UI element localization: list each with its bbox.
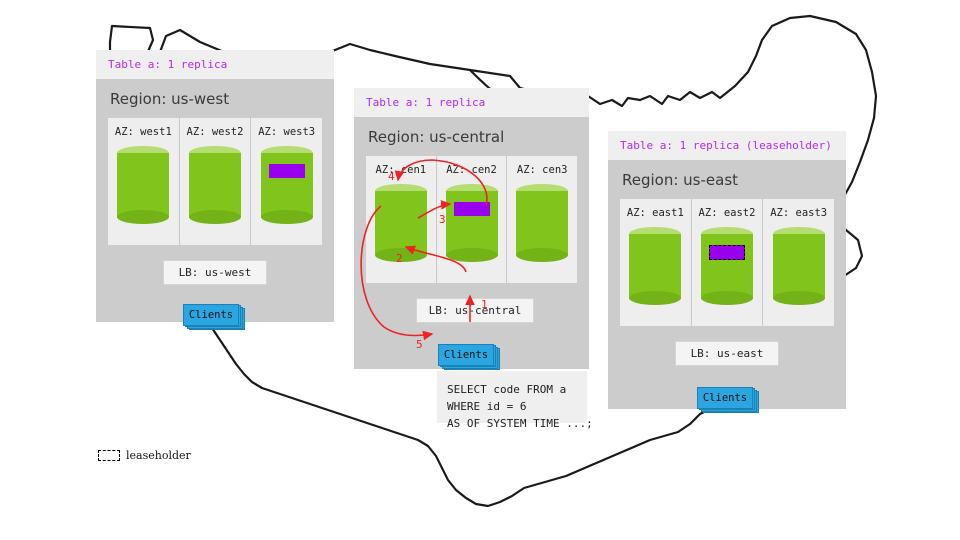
cylinder-cen2 [446, 184, 498, 262]
replica-west3[interactable] [269, 164, 305, 178]
az-label-west1: AZ: west1 [108, 127, 179, 138]
cylinder-bottom-cen1 [375, 248, 427, 262]
lb-us-east[interactable]: LB: us-east [675, 341, 779, 366]
az-cen3[interactable]: AZ: cen3 [506, 156, 577, 283]
cylinder-body-east1 [629, 234, 681, 298]
az-label-cen3: AZ: cen3 [507, 165, 577, 176]
cylinder-east3 [773, 227, 825, 305]
cylinder-body-west2 [189, 153, 241, 217]
cylinder-bottom-west1 [117, 210, 169, 224]
clients-label-us-east: Clients [697, 387, 753, 409]
sql-query-box: SELECT code FROM a WHERE id = 6 AS OF SY… [437, 371, 587, 423]
region-header-us-west: Table a: 1 replica [96, 50, 334, 79]
az-east3[interactable]: AZ: east3 [762, 199, 834, 326]
az-west1[interactable]: AZ: west1 [108, 118, 179, 245]
replica-east2-leaseholder[interactable] [709, 245, 745, 260]
cylinder-east1 [629, 227, 681, 305]
az-label-cen1: AZ: cen1 [366, 165, 436, 176]
az-label-east2: AZ: east2 [692, 208, 763, 219]
az-row-us-central: AZ: cen1 AZ: cen2 [366, 156, 577, 283]
clients-us-west[interactable]: Clients [183, 304, 245, 330]
az-west2[interactable]: AZ: west2 [179, 118, 251, 245]
region-title-us-east: Region: us-east [608, 160, 846, 199]
az-row-us-west: AZ: west1 AZ: west2 AZ [108, 118, 322, 245]
clients-label-us-west: Clients [183, 304, 239, 326]
az-label-east1: AZ: east1 [620, 208, 691, 219]
lb-us-central[interactable]: LB: us-central [416, 298, 534, 323]
lb-us-west[interactable]: LB: us-west [163, 260, 267, 285]
region-panel-us-east: Table a: 1 replica (leaseholder) Region:… [608, 131, 846, 409]
cylinder-body-cen3 [516, 191, 568, 255]
az-east2[interactable]: AZ: east2 [691, 199, 763, 326]
cylinder-body-west3 [261, 153, 313, 217]
legend-label: leaseholder [126, 450, 191, 461]
az-label-cen2: AZ: cen2 [437, 165, 507, 176]
region-panel-us-central: Table a: 1 replica Region: us-central AZ… [354, 88, 589, 369]
cylinder-west1 [117, 146, 169, 224]
region-header-us-central: Table a: 1 replica [354, 88, 589, 117]
clients-label-us-central: Clients [438, 344, 494, 366]
cylinder-west2 [189, 146, 241, 224]
clients-us-east[interactable]: Clients [697, 387, 759, 413]
cylinder-east2 [701, 227, 753, 305]
legend-leaseholder: leaseholder [98, 450, 191, 461]
cylinder-body-cen2 [446, 191, 498, 255]
diagram-canvas: Table a: 1 replica Region: us-west AZ: w… [0, 0, 960, 540]
cylinder-bottom-east1 [629, 291, 681, 305]
cylinder-bottom-west2 [189, 210, 241, 224]
az-label-west3: AZ: west3 [251, 127, 322, 138]
cylinder-cen1 [375, 184, 427, 262]
cylinder-body-cen1 [375, 191, 427, 255]
region-panel-us-west: Table a: 1 replica Region: us-west AZ: w… [96, 50, 334, 322]
cylinder-body-west1 [117, 153, 169, 217]
az-label-west2: AZ: west2 [180, 127, 251, 138]
cylinder-bottom-cen3 [516, 248, 568, 262]
cylinder-body-east3 [773, 234, 825, 298]
cylinder-west3 [261, 146, 313, 224]
az-east1[interactable]: AZ: east1 [620, 199, 691, 326]
dashed-rect-icon [98, 450, 120, 461]
region-title-us-west: Region: us-west [96, 79, 334, 118]
cylinder-bottom-west3 [261, 210, 313, 224]
az-row-us-east: AZ: east1 AZ: east2 [620, 199, 834, 326]
region-body-us-west: Region: us-west AZ: west1 AZ: west2 [96, 79, 334, 322]
region-title-us-central: Region: us-central [354, 117, 589, 156]
cylinder-bottom-east2 [701, 291, 753, 305]
cylinder-bottom-cen2 [446, 248, 498, 262]
az-label-east3: AZ: east3 [763, 208, 834, 219]
region-body-us-central: Region: us-central AZ: cen1 AZ: cen2 [354, 117, 589, 369]
cylinder-body-east2 [701, 234, 753, 298]
az-cen1[interactable]: AZ: cen1 [366, 156, 436, 283]
region-body-us-east: Region: us-east AZ: east1 AZ: east2 [608, 160, 846, 409]
region-header-us-east: Table a: 1 replica (leaseholder) [608, 131, 846, 160]
clients-us-central[interactable]: Clients [438, 344, 500, 370]
az-cen2[interactable]: AZ: cen2 [436, 156, 507, 283]
replica-cen2[interactable] [454, 202, 490, 216]
cylinder-bottom-east3 [773, 291, 825, 305]
az-west3[interactable]: AZ: west3 [250, 118, 322, 245]
cylinder-cen3 [516, 184, 568, 262]
